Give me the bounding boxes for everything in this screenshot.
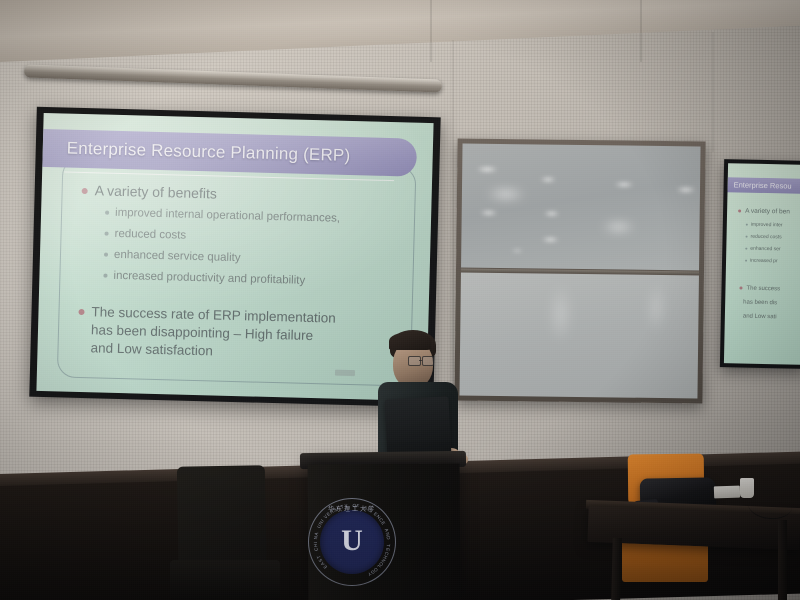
sub-bullet-dot-icon (104, 253, 108, 257)
light-glare (548, 284, 573, 344)
bullet-dot-icon (738, 209, 741, 212)
secondary-line-5: increased pr (745, 258, 778, 265)
black-chair-seat (170, 560, 280, 600)
eyeglasses-right-lens-icon (422, 356, 434, 366)
secondary-screen-frame: Enterprise Resou A variety of ben improv… (720, 159, 800, 369)
sub-bullet-dot-icon (105, 211, 109, 215)
bullet-dot-icon (78, 309, 84, 315)
secondary-line-6: The success (739, 285, 780, 292)
light-glare (601, 221, 635, 232)
lecture-hall-photo: Enterprise Resource Planning (ERP) A var… (0, 0, 800, 600)
slide-subbullet-2-text: reduced costs (114, 228, 186, 242)
slide-surface: Enterprise Resource Planning (ERP) A var… (36, 113, 433, 401)
whiteboard (454, 138, 705, 403)
secondary-line-4: enhanced ser (745, 246, 780, 253)
secondary-slide-title-band: Enterprise Resou (727, 177, 800, 194)
whiteboard-panel-lower (459, 273, 698, 399)
table-leg (611, 538, 622, 600)
secondary-line-2: improved inter (746, 222, 783, 229)
light-glare (480, 210, 498, 216)
eyeglasses-left-lens-icon (408, 356, 421, 366)
secondary-slide-title: Enterprise Resou (734, 180, 792, 190)
secondary-line-8: and Low sati (743, 314, 777, 321)
light-glare (646, 283, 667, 333)
secondary-line-7: has been dis (743, 300, 777, 307)
bullet-dot-icon (739, 286, 742, 289)
slide-bullet-1-text: A variety of benefits (94, 182, 217, 201)
hair-top (389, 332, 431, 350)
light-glare (544, 211, 560, 217)
light-glare (486, 188, 526, 200)
eyeglasses-bridge-icon (419, 360, 422, 361)
secondary-slide-surface: Enterprise Resou A variety of ben improv… (724, 163, 800, 365)
sub-bullet-dot-icon (105, 232, 109, 236)
ceiling-seam (430, 0, 432, 62)
slide-subbullet-2: reduced costs (104, 228, 186, 242)
wall-seam (712, 32, 714, 152)
slide-footer-mark (335, 370, 355, 377)
logo-english-name: EAST CHINA UNIVERSITY OF SCIENCE AND TEC… (308, 498, 396, 586)
ceiling-seam (640, 0, 642, 62)
light-glare (540, 177, 556, 183)
sub-bullet-dot-icon (745, 259, 747, 261)
secondary-line-1: A variety of ben (738, 207, 790, 215)
university-logo: U 华东理工大学 EAST CHINA UNIVERSITY OF SCIENC… (308, 498, 396, 586)
paper-sheet (714, 486, 740, 499)
slide-title: Enterprise Resource Planning (ERP) (67, 139, 351, 166)
whiteboard-panel-upper (461, 144, 700, 271)
sub-bullet-dot-icon (746, 235, 748, 237)
sub-bullet-dot-icon (746, 223, 748, 225)
secondary-line-3: reduced costs (746, 234, 782, 241)
sub-bullet-dot-icon (745, 247, 747, 249)
light-glare (511, 248, 523, 253)
light-glare (614, 181, 634, 187)
light-glare (476, 166, 498, 173)
light-glare (676, 186, 696, 193)
light-glare (541, 237, 559, 243)
bullet-dot-icon (82, 188, 88, 194)
sub-bullet-dot-icon (103, 274, 107, 278)
slide-bullet-2-line3: and Low satisfaction (90, 340, 213, 358)
table-leg (778, 520, 787, 600)
